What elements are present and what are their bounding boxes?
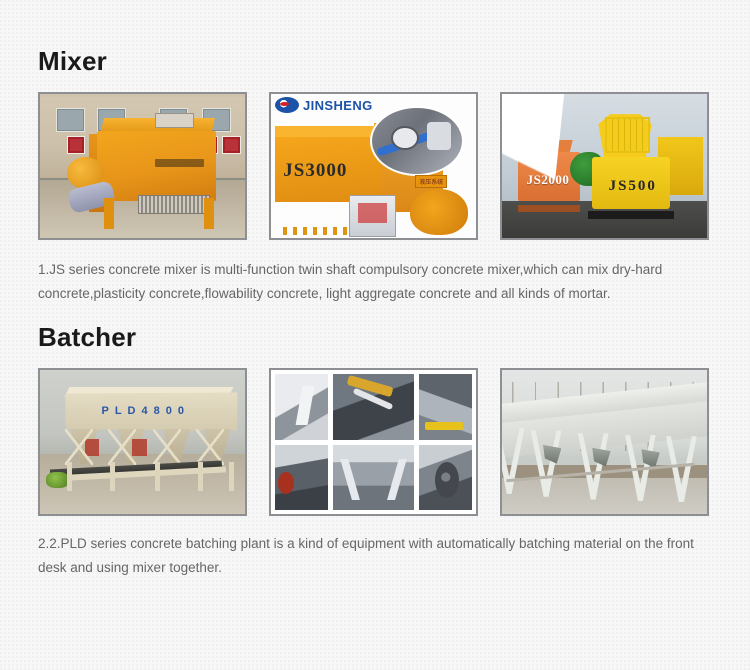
batcher-description: 2.2.PLD series concrete batching plant i… <box>38 516 712 580</box>
orange-mixer-base <box>518 205 580 212</box>
red-signboard <box>222 136 240 154</box>
batcher-image-row: PLD4800 <box>38 368 712 516</box>
image-content: JS3000 液压系统 JINSHENG <box>271 94 476 238</box>
detail-photo-cylinder-linkage <box>333 374 415 440</box>
mixer-body-logo <box>155 159 204 168</box>
frame-x-brace <box>65 429 94 465</box>
product-image-pld4800-batcher[interactable]: PLD4800 <box>38 368 247 516</box>
jinsheng-emblem-icon <box>275 97 299 113</box>
product-image-js2000-js500-group[interactable]: JS2000 JS500 <box>500 92 709 240</box>
product-image-js3000-jinsheng[interactable]: JS3000 液压系统 JINSHENG <box>269 92 478 240</box>
detail-photo-yellow-guard <box>419 374 472 440</box>
detail-callout-tag: 液压系统 <box>415 175 447 188</box>
hoist-cage <box>605 117 650 153</box>
hydraulic-valve <box>427 122 450 150</box>
product-image-batcher-detail-collage[interactable] <box>269 368 478 516</box>
detail-photo-conveyor-roller <box>275 445 328 511</box>
detail-photo-weighing-frame <box>333 445 415 511</box>
mixer-leg <box>104 198 114 230</box>
brand-logo: JINSHENG <box>275 97 373 113</box>
mixer-leg <box>204 198 214 230</box>
product-page: Mixer <box>0 0 750 580</box>
mixer-end-drum <box>410 189 467 235</box>
hydraulic-detail-inset <box>370 106 464 176</box>
product-image-js-mixer-yard[interactable] <box>38 92 247 240</box>
detail-collage-grid <box>275 374 472 510</box>
image-content <box>40 94 245 238</box>
detail-photo-drive-pulley <box>419 445 472 511</box>
detail-photo-hopper-gate <box>275 374 328 440</box>
model-label-js3000: JS3000 <box>283 160 347 182</box>
section-heading-batcher: Batcher <box>38 306 712 350</box>
mixer-description: 1.JS series concrete mixer is multi-func… <box>38 240 712 306</box>
image-content <box>502 370 707 514</box>
control-panel <box>349 195 396 237</box>
support-post <box>229 462 234 491</box>
product-image-gray-hopper-structure[interactable] <box>500 368 709 516</box>
model-label-pld4800: PLD4800 <box>102 405 190 417</box>
image-content <box>271 370 476 514</box>
conveyor-drive-motor <box>46 472 69 488</box>
model-label-js2000: JS2000 <box>527 172 570 188</box>
support-post <box>198 462 203 491</box>
mixer-guard-grill <box>138 195 210 214</box>
yellow-mixer-base <box>588 211 674 220</box>
red-signboard <box>67 136 85 154</box>
pressure-gauge <box>391 126 418 150</box>
frame-x-brace <box>153 429 182 465</box>
mixer-image-row: JS3000 液压系统 JINSHENG <box>38 92 712 240</box>
image-content: PLD4800 <box>40 370 245 514</box>
building-window <box>56 108 85 132</box>
support-post <box>67 462 72 491</box>
frame-x-brace <box>108 429 137 465</box>
support-post <box>155 462 160 491</box>
section-heading-mixer: Mixer <box>38 0 712 74</box>
support-post <box>110 462 115 491</box>
brand-name-text: JINSHENG <box>303 98 373 113</box>
mixer-inspection-hatch <box>155 113 194 128</box>
image-content: JS2000 JS500 <box>502 94 707 238</box>
model-label-js500: JS500 <box>609 178 657 195</box>
